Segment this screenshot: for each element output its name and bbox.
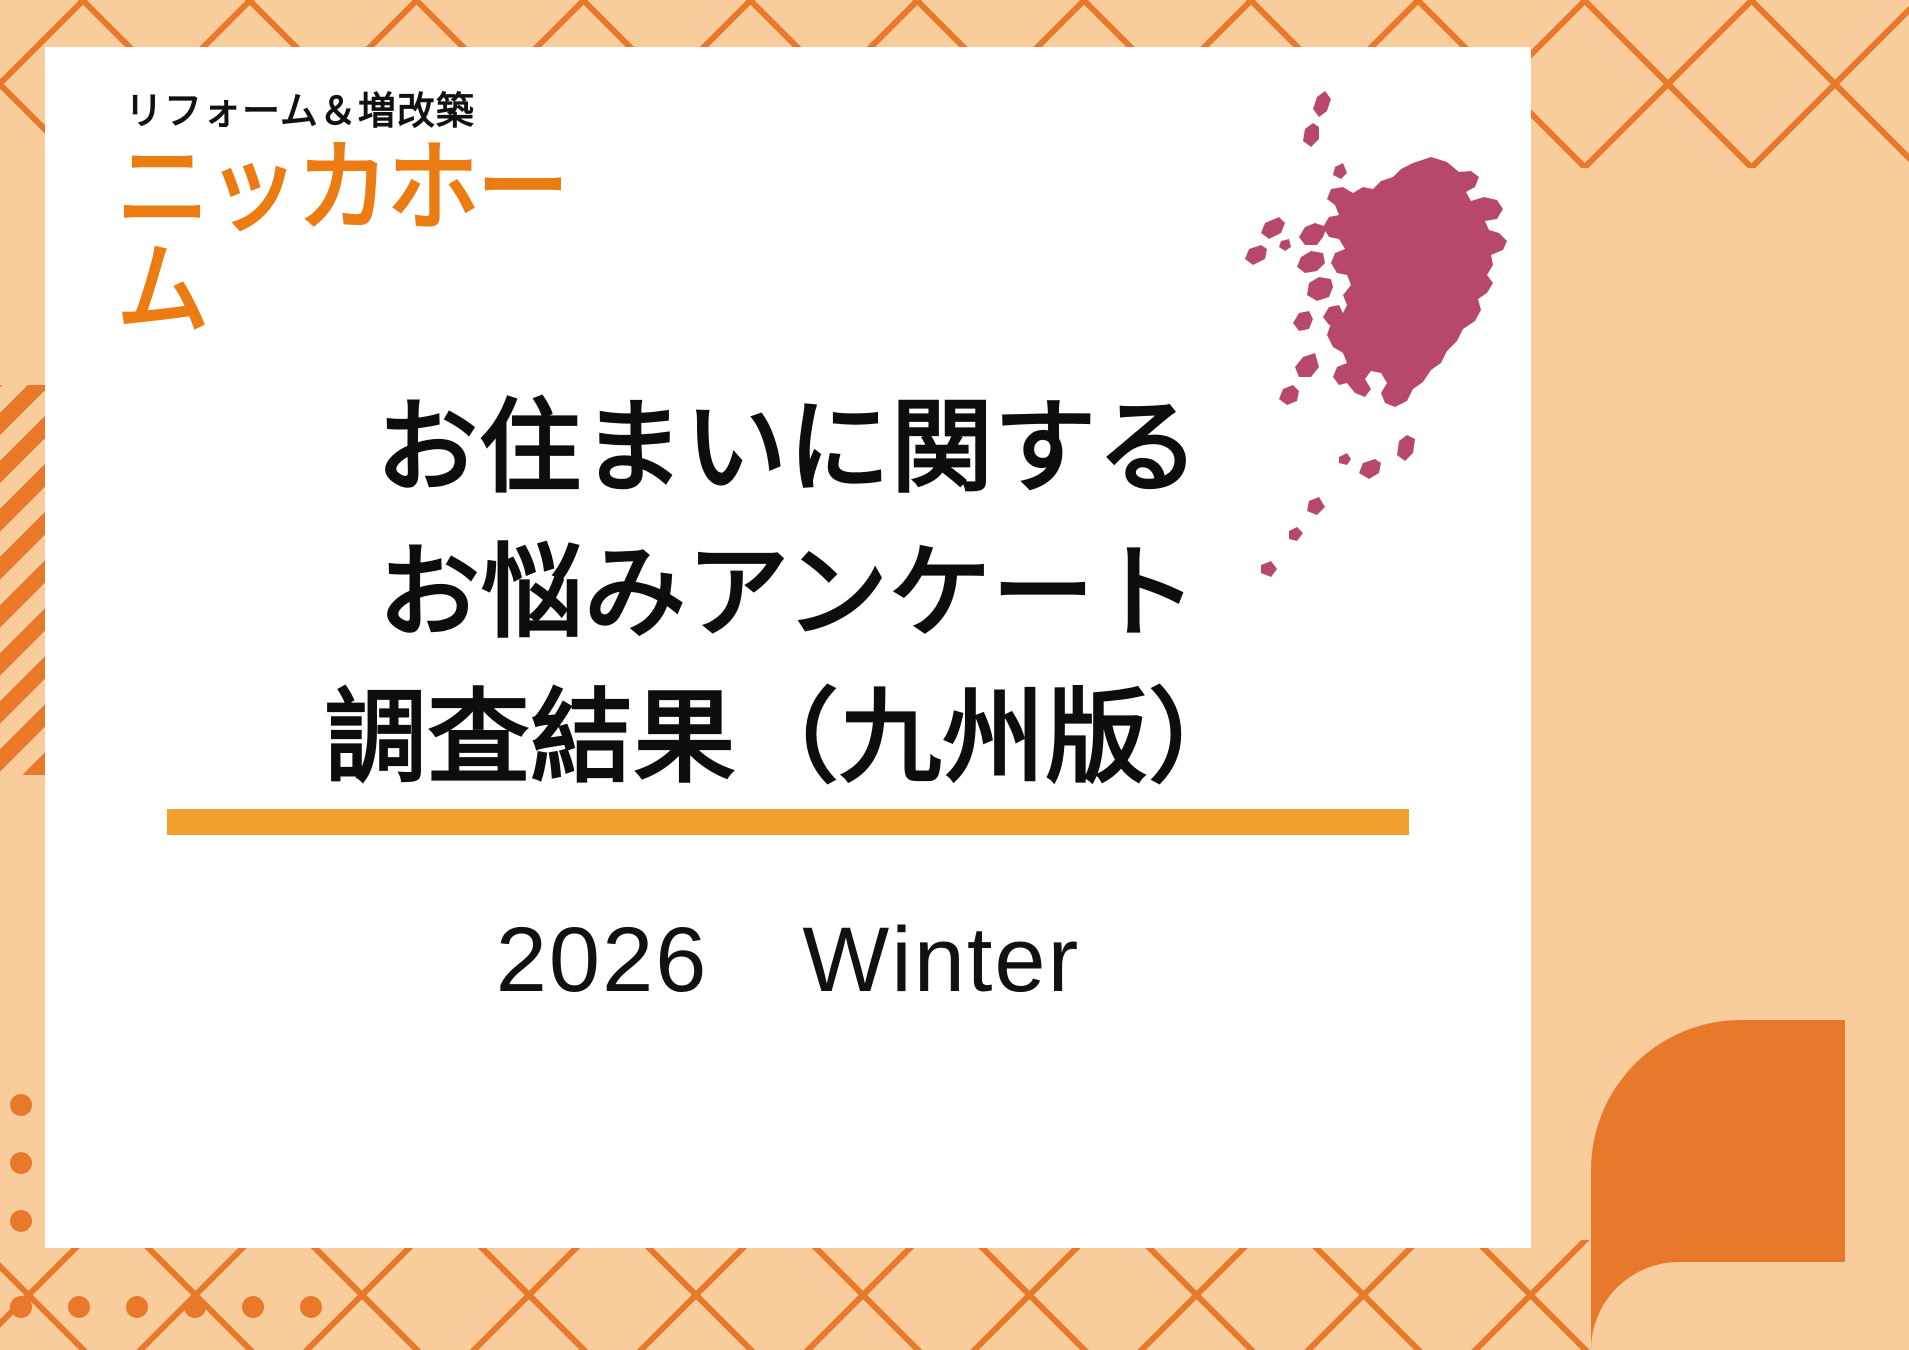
dot [126, 1296, 148, 1318]
corner-bar-right [1845, 1020, 1909, 1262]
brand-logo: リフォーム＆増改築 ニッカホーム [117, 92, 637, 326]
poster-canvas: リフォーム＆増改築 ニッカホーム [0, 0, 1909, 1350]
title-line-1: お住まいに関する [45, 377, 1531, 522]
dot [10, 1152, 32, 1174]
page-title: お住まいに関する お悩みアンケート 調査結果（九州版） [45, 377, 1531, 811]
title-divider [167, 809, 1409, 835]
logo-tagline: リフォーム＆増改築 [125, 92, 637, 130]
content-card: リフォーム＆増改築 ニッカホーム [45, 47, 1531, 1248]
title-line-3: 調査結果（九州版） [45, 667, 1531, 812]
season-label: 2026 Winter [45, 885, 1531, 1018]
diagonal-stripes-left [0, 385, 45, 775]
dot [10, 1296, 32, 1318]
corner-blob-bottom-right [1591, 1020, 1909, 1350]
dot [68, 1296, 90, 1318]
dot-column-left [10, 1094, 32, 1232]
dot [10, 1094, 32, 1116]
dot-row-bottom [10, 1296, 322, 1318]
dot [184, 1296, 206, 1318]
corner-bar-bottom [1591, 1262, 1909, 1350]
logo-brand-name: ニッカホーム [117, 138, 637, 341]
title-line-2: お悩みアンケート [45, 522, 1531, 667]
dot [242, 1296, 264, 1318]
dot [10, 1210, 32, 1232]
chevron-pattern-bottom [0, 1240, 1909, 1350]
dot [300, 1296, 322, 1318]
